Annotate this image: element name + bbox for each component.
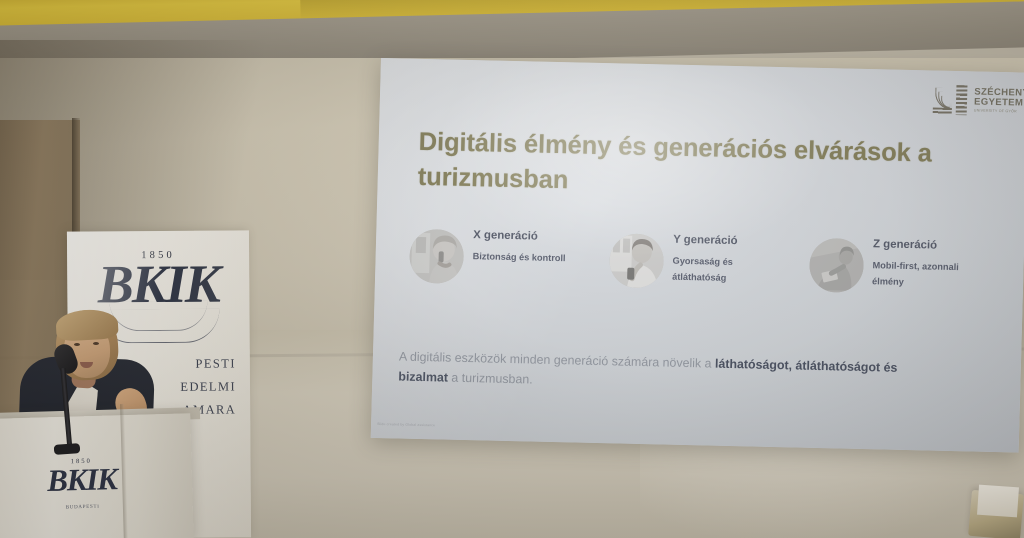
y-generation-title: Y generáció [673, 234, 781, 248]
x-generation-text: X generáció Biztonság és kontroll [472, 228, 566, 266]
generation-card-x: X generáció Biztonság és kontroll [409, 227, 610, 288]
university-name-line3: UNIVERSITY OF GYŐR [974, 109, 1024, 114]
presentation-slide: SZÉCHENYI EGYETEM UNIVERSITY OF GYŐR Dig… [371, 58, 1024, 453]
podium-bkik-logo: 1850 BKIK BUDAPESTI [35, 457, 128, 512]
z-generation-description: Mobil-first, azonnali élmény [872, 257, 981, 292]
x-generation-description: Biztonság és kontroll [472, 248, 565, 266]
summary-part-1: A digitális eszközök minden generáció sz… [399, 349, 715, 370]
presenter-eye-right [93, 342, 99, 345]
szechenyi-egyetem-logo: SZÉCHENYI EGYETEM UNIVERSITY OF GYŐR [933, 85, 1024, 117]
university-wordmark: SZÉCHENYI EGYETEM UNIVERSITY OF GYŐR [974, 88, 1024, 115]
x-generation-title: X generáció [473, 229, 566, 243]
projection-screen: SZÉCHENYI EGYETEM UNIVERSITY OF GYŐR Dig… [371, 58, 1024, 453]
y-generation-text: Y generáció Gyorsaság és átláthatóság [672, 233, 781, 288]
podium-logo-text: BKIK [35, 463, 128, 497]
conference-room-photo: SZÉCHENYI EGYETEM UNIVERSITY OF GYŐR Dig… [0, 0, 1024, 538]
slide-summary-text: A digitális eszközök minden generáció sz… [398, 346, 929, 398]
logo-bar-lines [956, 85, 968, 115]
logo-base-lines [933, 108, 952, 115]
slide-credit-line: Slide created by Global assistance [377, 422, 435, 427]
summary-part-2: a turizmusban. [448, 371, 533, 387]
slide-title: Digitális élmény és generációs elvárások… [417, 125, 979, 208]
x-generation-photo [409, 229, 464, 284]
z-generation-photo [809, 238, 864, 293]
microphone-base [54, 443, 81, 455]
z-generation-title: Z generáció [873, 238, 981, 252]
generation-card-z: Z generáció Mobil-first, azonnali élmény [809, 236, 1010, 297]
foreground-object-label [977, 485, 1019, 518]
presenter-hair-front [55, 308, 118, 341]
generation-card-y: Y generáció Gyorsaság és átláthatóság [609, 231, 810, 292]
presenter-eye-left [74, 343, 80, 346]
y-generation-photo [609, 233, 664, 288]
university-name-line2: EGYETEM [974, 98, 1024, 109]
university-mark-icon [933, 85, 968, 116]
generation-cards-row: X generáció Biztonság és kontroll [409, 227, 1010, 297]
y-generation-description: Gyorsaság és átláthatóság [672, 253, 781, 288]
z-generation-text: Z generáció Mobil-first, azonnali élmény [872, 237, 981, 292]
